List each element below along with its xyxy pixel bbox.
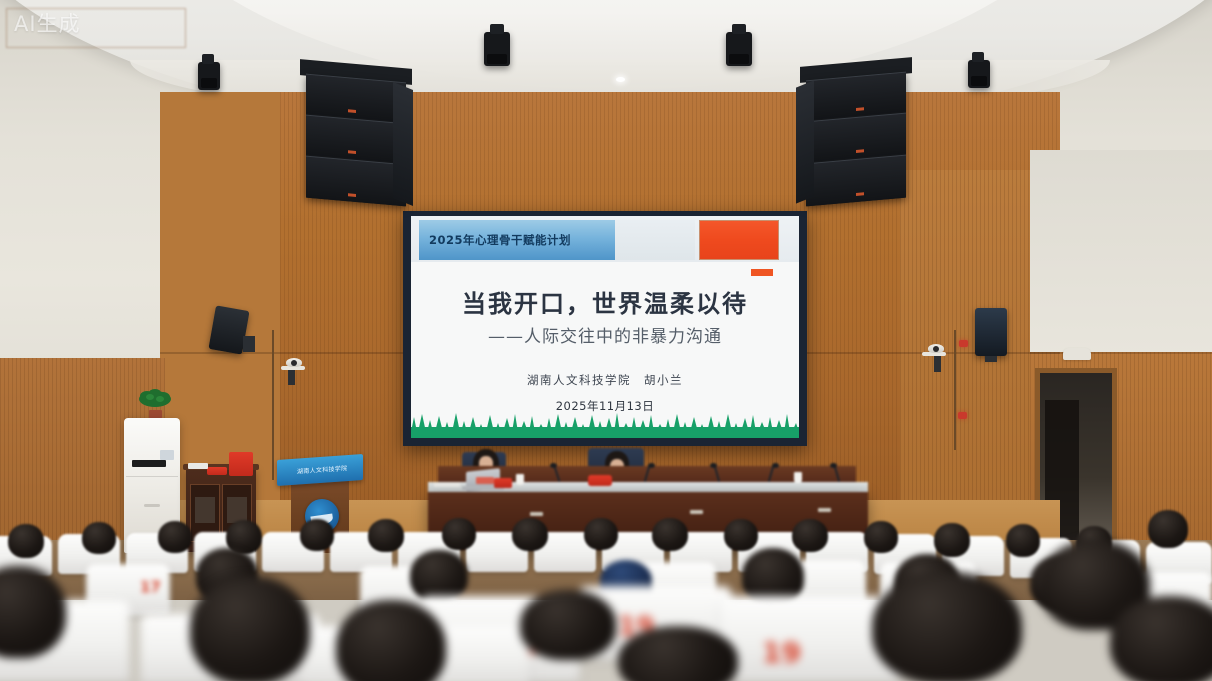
ac-control-panel (160, 450, 174, 460)
audience-head (158, 521, 192, 553)
audience-head (8, 524, 44, 558)
microphone-head (648, 463, 655, 468)
line-array-speaker-left (306, 74, 406, 207)
water-cup-right (794, 472, 802, 483)
ceiling-camera-left (286, 358, 302, 367)
slide-header-grey-block (615, 220, 695, 260)
paper-stack (188, 463, 208, 469)
spotlight-far-right (968, 60, 990, 88)
slide-subtitle: ——人际交往中的非暴力沟通 (411, 322, 799, 347)
audience-head (652, 518, 688, 551)
audience-head (724, 519, 758, 551)
lecture-hall-photo: 2025年心理骨干赋能计划 当我开口，世界温柔以待 ——人际交往中的非暴力沟通 … (0, 0, 1212, 681)
audience-head (82, 522, 116, 554)
ac-vent (132, 460, 166, 467)
lectern-banner: 湖南人文科技学院 (277, 454, 363, 486)
red-box-flat (207, 467, 227, 475)
desk-papers (434, 482, 460, 487)
audience-head (1006, 524, 1040, 557)
seat-number: 19 (762, 636, 801, 669)
right-upper-wall (1030, 150, 1212, 355)
audience-head (336, 600, 446, 681)
line-array-speaker-right (806, 72, 906, 207)
emergency-light (958, 412, 967, 419)
audience-head (1148, 510, 1188, 548)
audience-head (864, 521, 898, 553)
desk-red-box-right (588, 475, 612, 486)
ai-generated-watermark: AI生成 (14, 8, 81, 38)
lectern-banner-label: 湖南人文科技学院 (297, 463, 347, 476)
spotlight-left (484, 32, 510, 66)
water-cup-left (516, 474, 524, 485)
audience-head (792, 519, 828, 552)
projection-screen: 2025年心理骨干赋能计划 当我开口，世界温柔以待 ——人际交往中的非暴力沟通 … (411, 216, 799, 438)
wall-shelf-object (1063, 348, 1091, 360)
audience-head (410, 550, 468, 602)
spotlight-right (726, 32, 752, 66)
seat-number: 17 (140, 578, 161, 596)
audience-head (512, 518, 548, 551)
audience-head (442, 518, 476, 550)
spotlight-far-left (198, 62, 220, 90)
desk-red-box-left (494, 478, 512, 488)
audience-head (584, 518, 618, 550)
slide-header-orange-chip (751, 269, 773, 276)
audience-head (520, 590, 616, 660)
slide-author: 湖南人文科技学院 胡小兰 (411, 372, 799, 388)
grass-icon (411, 412, 799, 438)
ac-handle (144, 504, 160, 507)
line-array-side (393, 82, 413, 206)
ceiling-camera-right (928, 344, 944, 353)
audience-head (934, 523, 970, 557)
microphone-head (710, 463, 717, 468)
table-knob (690, 510, 703, 514)
microphone-head (830, 463, 837, 468)
wall-cable (272, 330, 274, 480)
slide-header-badge-label: 2025年心理骨干赋能计划 (419, 232, 571, 248)
laptop-sticker (476, 477, 494, 484)
slide-title: 当我开口，世界温柔以待 (411, 284, 799, 319)
speaker-bracket (985, 356, 997, 362)
audience-head (872, 572, 1022, 681)
emergency-light (959, 340, 968, 347)
slide-grass-decoration (411, 412, 799, 438)
slide-header-badge: 2025年心理骨干赋能计划 (419, 220, 615, 260)
audience-head (368, 519, 404, 552)
camera-arm (934, 356, 941, 372)
audience-head (1110, 596, 1212, 681)
red-box-tall (229, 452, 253, 476)
potted-plant (136, 386, 174, 420)
table-knob (818, 508, 831, 512)
wall-cable (954, 330, 956, 450)
line-array-side (796, 80, 814, 203)
camera-arm (288, 370, 295, 385)
wall-speaker-right (975, 308, 1007, 356)
audience-head (300, 519, 334, 551)
audience-head (190, 576, 310, 681)
microphone-head (772, 463, 779, 468)
table-knob (530, 512, 543, 516)
speaker-bracket (243, 336, 255, 352)
audience-head (618, 626, 738, 681)
wood-seam (1030, 352, 1212, 354)
slide-header-orange-block (699, 220, 779, 260)
ac-seam (126, 476, 178, 477)
microphone-head (550, 463, 557, 468)
ceiling-downlight (616, 77, 625, 82)
